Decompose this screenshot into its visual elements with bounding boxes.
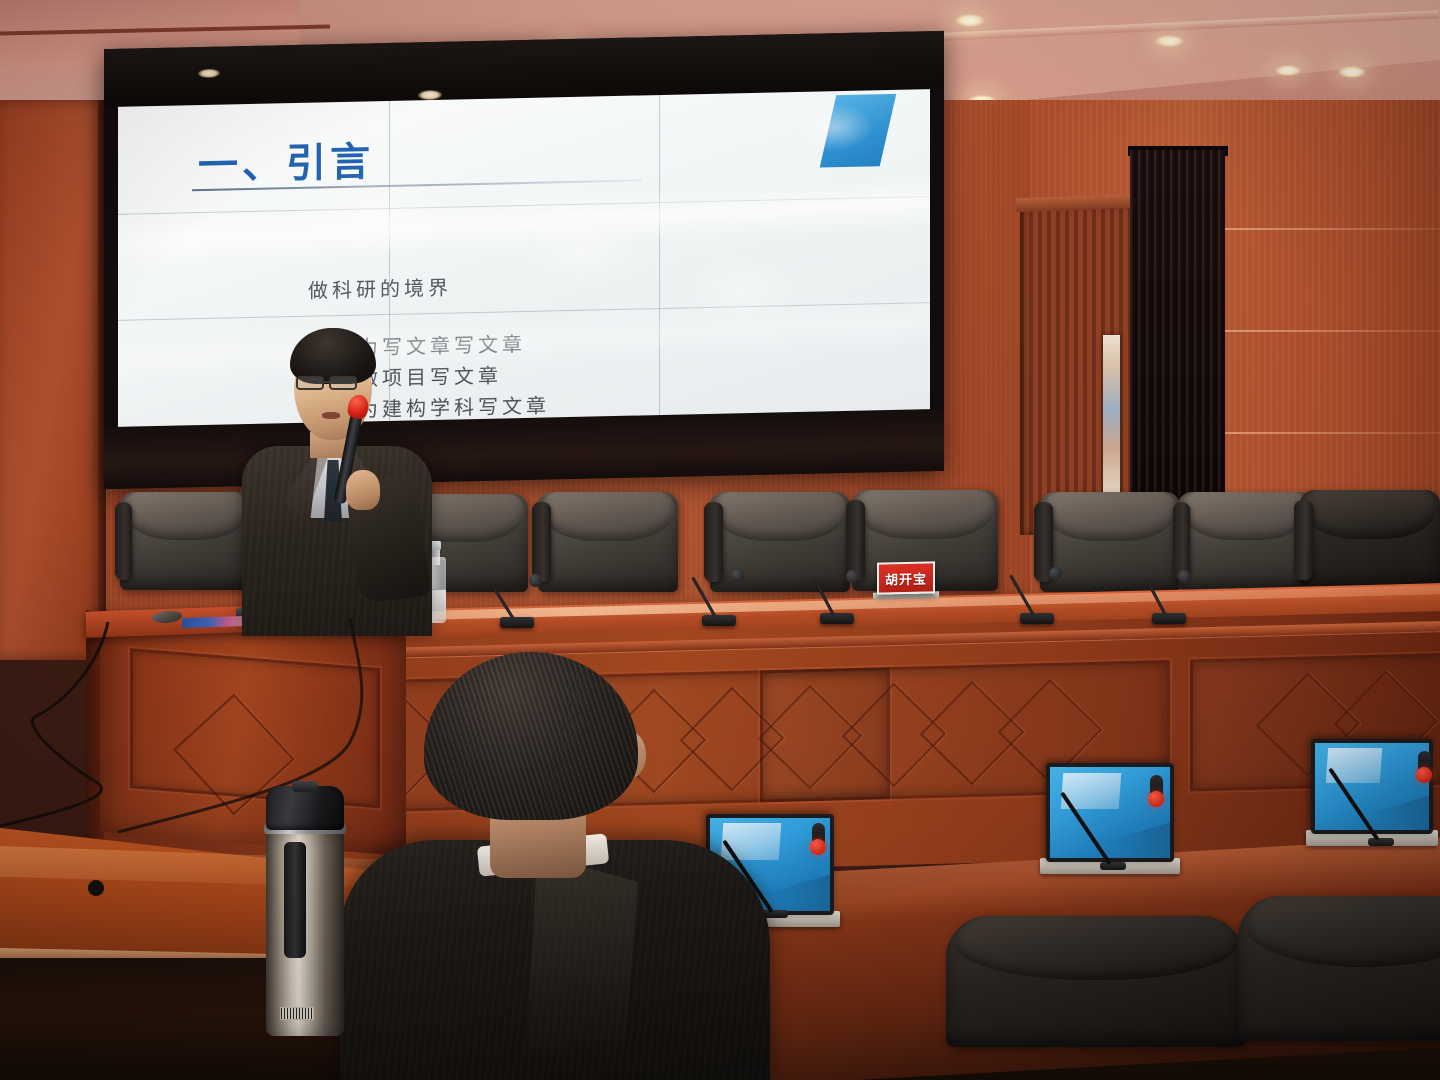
wall-banner	[1103, 335, 1120, 495]
conference-photo-scene: 一、引言 做科研的境界 为写文章写文章 做项目写文章 为建构学科写文章 为文化建…	[0, 0, 1440, 1080]
chair-headrest	[1182, 492, 1310, 540]
left-wall-wood-panel	[0, 100, 104, 660]
eyeglasses-bridge	[323, 381, 331, 383]
vacuum-thermos	[262, 786, 348, 1036]
name-placard-text: 胡开宝	[885, 568, 927, 588]
thermos-pump-knob	[292, 781, 318, 792]
blackout-curtain	[1130, 150, 1225, 540]
gooseneck-microphone	[1020, 566, 1060, 624]
slide-title: 一、引言	[198, 129, 374, 191]
audience-hair	[424, 652, 638, 820]
front-gooseneck-microphone	[1100, 760, 1190, 870]
microphone-capsule	[1178, 570, 1191, 583]
front-gooseneck-microphone	[762, 808, 852, 918]
microphone-base	[702, 615, 736, 626]
audience-lapel	[526, 854, 638, 1054]
name-placard: 胡开宝	[877, 561, 935, 594]
thermos-lid	[266, 786, 344, 830]
chair-armrest	[846, 500, 865, 581]
speaker-figure	[236, 328, 436, 628]
bezel-reflection	[418, 90, 442, 101]
chair-armrest	[1294, 500, 1312, 579]
thermos-label	[280, 1007, 314, 1020]
gooseneck-microphone	[1152, 570, 1192, 624]
microphone-base	[1368, 838, 1394, 846]
audience-member-figure	[340, 652, 770, 1080]
chair-headrest	[124, 492, 248, 540]
microphone-base	[1152, 613, 1186, 624]
slide-accent-parallelogram	[820, 94, 897, 168]
microphone-base	[1100, 862, 1126, 870]
ceiling-downlight	[1155, 35, 1184, 47]
video-wall: 一、引言 做科研的境界 为写文章写文章 做项目写文章 为建构学科写文章 为文化建…	[104, 31, 944, 489]
chair-headrest	[856, 490, 993, 539]
chair-headrest	[714, 492, 846, 541]
speaker-mouth	[322, 412, 340, 419]
chair-armrest	[532, 502, 550, 581]
front-gooseneck-microphone	[1368, 736, 1440, 846]
executive-chair	[538, 492, 678, 620]
ceiling-downlight	[1338, 66, 1366, 78]
gooseneck-microphone	[500, 572, 540, 628]
executive-chair	[120, 492, 252, 617]
gooseneck-microphone	[820, 570, 860, 624]
chair-armrest	[1173, 502, 1191, 580]
eyeglasses-lens-right-icon	[329, 376, 357, 390]
microphone-capsule	[529, 574, 542, 587]
ceiling-downlight	[955, 14, 985, 27]
chair-headrest	[1044, 492, 1176, 541]
bezel-reflection	[198, 69, 220, 78]
chair-headrest	[1304, 490, 1436, 539]
microphone-capsule	[846, 570, 859, 583]
microphone-mute-ring	[810, 839, 826, 855]
chair-headrest	[955, 916, 1237, 980]
gooseneck-microphone	[702, 568, 742, 626]
speaker-hand	[346, 470, 380, 510]
thermos-handle	[284, 842, 306, 958]
ceiling-downlight	[1275, 65, 1301, 76]
chair-armrest	[115, 502, 132, 580]
microphone-mute-ring	[1416, 767, 1432, 783]
handheld-microphone-windscreen	[346, 393, 370, 420]
chair-headrest	[542, 492, 674, 541]
lcd-seam-vertical	[659, 95, 660, 415]
microphone-base	[1020, 613, 1054, 624]
microphone-mute-ring	[1148, 791, 1164, 807]
front-row-chair	[946, 916, 1246, 1080]
microphone-base	[500, 617, 534, 628]
eyeglasses-lens-left-icon	[296, 376, 324, 390]
microphone-base	[820, 613, 854, 624]
slide-subtitle: 做科研的境界	[308, 272, 452, 304]
front-row-chair	[1238, 896, 1440, 1080]
